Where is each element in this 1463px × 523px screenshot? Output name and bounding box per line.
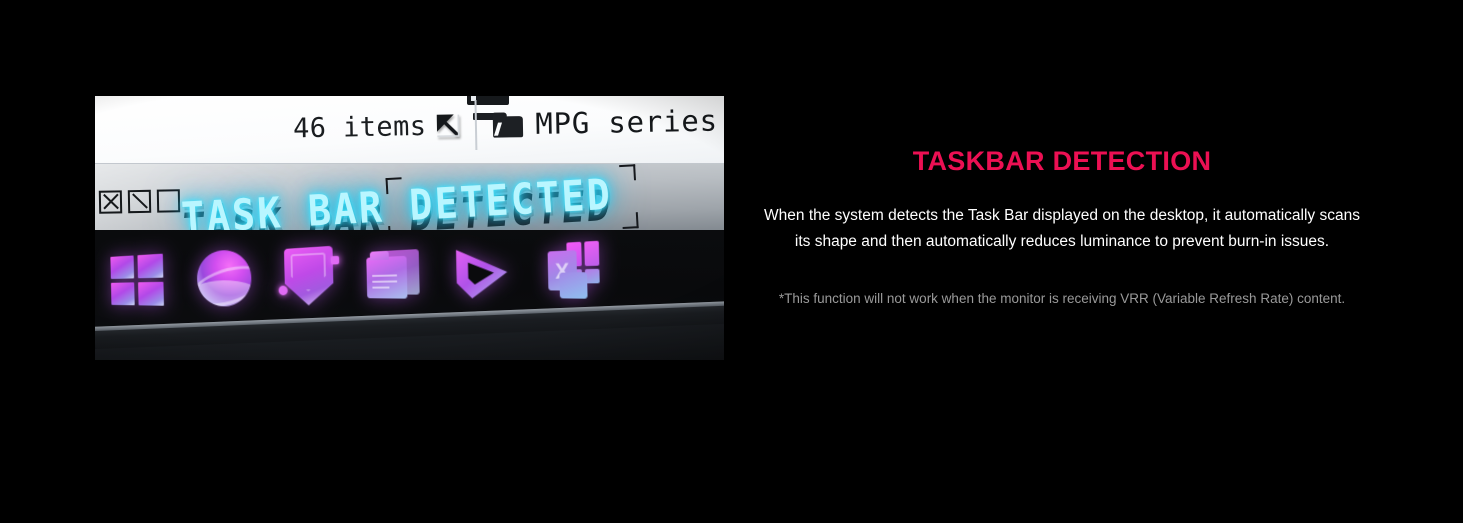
desktop-explorer-strip: 46 items MPG series xyxy=(95,96,724,168)
slashed-box-glyph xyxy=(128,190,151,213)
detection-message-wrap: TASK BAR DETECTED TASK BAR DETECTED xyxy=(180,164,724,234)
msi-monitor-taskbar-detection-photo: 46 items MPG series xyxy=(95,96,724,360)
corner-bracket-icon xyxy=(385,177,402,194)
page-root: 46 items MPG series xyxy=(0,0,1463,523)
msi-dragon-shield-icon[interactable] xyxy=(284,246,334,306)
osd-detection-band: TASK BAR DETECTED TASK BAR DETECTED xyxy=(95,164,724,234)
status-separator xyxy=(475,100,478,150)
crossed-box-glyph xyxy=(99,190,122,213)
empty-box-glyph xyxy=(157,189,180,212)
folder-label: MPG series xyxy=(535,104,718,141)
file-explorer-icon[interactable] xyxy=(366,247,422,301)
item-count-label: 46 items xyxy=(293,110,427,143)
diagonal-arrow-icon[interactable] xyxy=(435,112,461,138)
page-title: TASKBAR DETECTION xyxy=(742,146,1382,177)
corner-bracket-icon xyxy=(619,164,636,181)
feature-description: When the system detects the Task Bar dis… xyxy=(756,203,1368,255)
office-apps-icon[interactable] xyxy=(540,241,600,299)
feature-footnote: *This function will not work when the mo… xyxy=(742,289,1382,309)
placeholder-glyph-group xyxy=(99,189,180,214)
windows-start-icon[interactable] xyxy=(110,254,164,306)
folder-icon xyxy=(493,112,523,138)
media-player-icon[interactable] xyxy=(454,245,508,299)
feature-copy-block: TASKBAR DETECTION When the system detect… xyxy=(742,146,1382,309)
explorer-status-row: 46 items MPG series xyxy=(95,96,724,168)
item-count-cell: 46 items xyxy=(293,110,476,144)
corner-bracket-icon xyxy=(622,212,639,229)
folder-breadcrumb-cell: MPG series xyxy=(493,103,724,141)
edge-browser-icon[interactable] xyxy=(197,248,252,306)
